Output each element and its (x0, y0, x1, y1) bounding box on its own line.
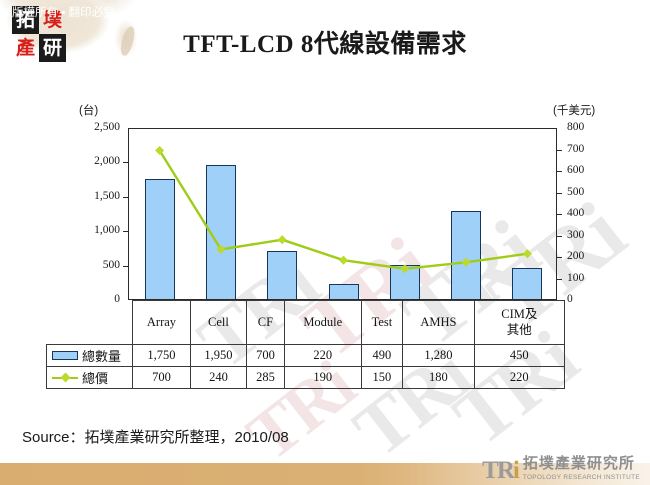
slide-title: TFT-LCD 8代線設備需求 (0, 24, 650, 60)
right-axis-tick-label: 600 (567, 164, 617, 176)
right-axis-tick-label: 300 (567, 229, 617, 241)
table-header-row: Array Cell CF Module Test AMHS CIM及其他 (47, 301, 565, 345)
table-cell: 700 (133, 367, 191, 389)
table-col-header: CIM及其他 (474, 301, 564, 345)
table-cell: 180 (403, 367, 474, 389)
right-axis-tick-label: 0 (567, 293, 617, 305)
institute-name-en: TOPOLOGY RESEARCH INSTITUTE (523, 474, 640, 481)
axis-tick-mark (557, 171, 562, 172)
table-cell: 240 (190, 367, 246, 389)
institute-logo: TRi 拓墣產業研究所 TOPOLOGY RESEARCH INSTITUTE (482, 457, 640, 481)
cat-label-cim: CIM及其他 (496, 307, 542, 338)
legend-label-quantity: 總數量 (82, 346, 121, 365)
table-corner-cell (47, 301, 133, 345)
left-axis-tick-label: 1,500 (62, 190, 120, 202)
right-axis-tick-label: 700 (567, 143, 617, 155)
left-axis-unit-label: (台) (79, 102, 98, 118)
right-axis-tick-label: 400 (567, 207, 617, 219)
cat-label-cell: Cell (191, 315, 246, 331)
legend-total-quantity: 總數量 (47, 345, 133, 367)
table-cell: 450 (474, 345, 564, 367)
table-col-header: Cell (190, 301, 246, 345)
table-row-total-price: 總價 700 240 285 190 150 180 220 (47, 367, 565, 389)
cat-label-array: Array (133, 315, 190, 331)
axis-tick-mark (557, 279, 562, 280)
institute-name-cn: 拓墣產業研究所 (523, 457, 640, 472)
table-col-header: Array (133, 301, 191, 345)
legend-label-price: 總價 (82, 368, 108, 387)
table-cell: 1,950 (190, 345, 246, 367)
total-price-markers (155, 146, 532, 273)
table-cell: 490 (361, 345, 403, 367)
left-axis-tick-label: 500 (62, 259, 120, 271)
tri-wordmark: TRi (482, 461, 518, 482)
line-marker (462, 258, 471, 267)
chart-plot-area (128, 128, 557, 300)
cat-label-module: Module (285, 315, 361, 331)
table-cell: 285 (246, 367, 284, 389)
table-row-total-quantity: 總數量 1,750 1,950 700 220 490 1,280 450 (47, 345, 565, 367)
bar-swatch-icon (52, 351, 78, 360)
data-table: Array Cell CF Module Test AMHS CIM及其他 (46, 300, 565, 389)
table-cell: 220 (474, 367, 564, 389)
table-cell: 220 (284, 345, 361, 367)
line-marker (400, 264, 409, 273)
source-note: Source：拓墣產業研究所整理，2010/08 (22, 426, 289, 447)
axis-tick-mark (557, 193, 562, 194)
cat-label-amhs: AMHS (403, 315, 473, 331)
table-cell: 700 (246, 345, 284, 367)
left-axis-tick-label: 1,000 (62, 224, 120, 236)
copyright-note: 版權所有 ▪ 翻印必究 (12, 4, 114, 20)
table-cell: 190 (284, 367, 361, 389)
total-price-line (160, 151, 528, 269)
axis-tick-mark (123, 266, 128, 267)
legend-total-price: 總價 (47, 367, 133, 389)
line-marker (523, 249, 532, 258)
axis-tick-mark (123, 197, 128, 198)
line-series-group (129, 129, 558, 301)
table-cell: 1,280 (403, 345, 474, 367)
cat-label-test: Test (362, 315, 403, 331)
cat-label-cf: CF (247, 315, 284, 331)
axis-tick-mark (123, 231, 128, 232)
table-col-header: Test (361, 301, 403, 345)
table-col-header: CF (246, 301, 284, 345)
line-swatch-icon (52, 373, 78, 382)
table-cell: 1,750 (133, 345, 191, 367)
right-axis-unit-label: (千美元) (553, 102, 595, 118)
left-axis-tick-label: 2,000 (62, 155, 120, 167)
right-axis-tick-label: 800 (567, 121, 617, 133)
table-col-header: Module (284, 301, 361, 345)
table-cell: 150 (361, 367, 403, 389)
axis-tick-mark (557, 150, 562, 151)
table-col-header: AMHS (403, 301, 474, 345)
line-marker (339, 256, 348, 265)
right-axis-tick-label: 500 (567, 186, 617, 198)
line-marker (278, 235, 287, 244)
right-axis-tick-label: 100 (567, 272, 617, 284)
axis-tick-mark (557, 257, 562, 258)
axis-tick-mark (557, 214, 562, 215)
axis-tick-mark (123, 162, 128, 163)
left-axis-tick-label: 2,500 (62, 121, 120, 133)
right-axis-tick-label: 200 (567, 250, 617, 262)
axis-tick-mark (557, 236, 562, 237)
